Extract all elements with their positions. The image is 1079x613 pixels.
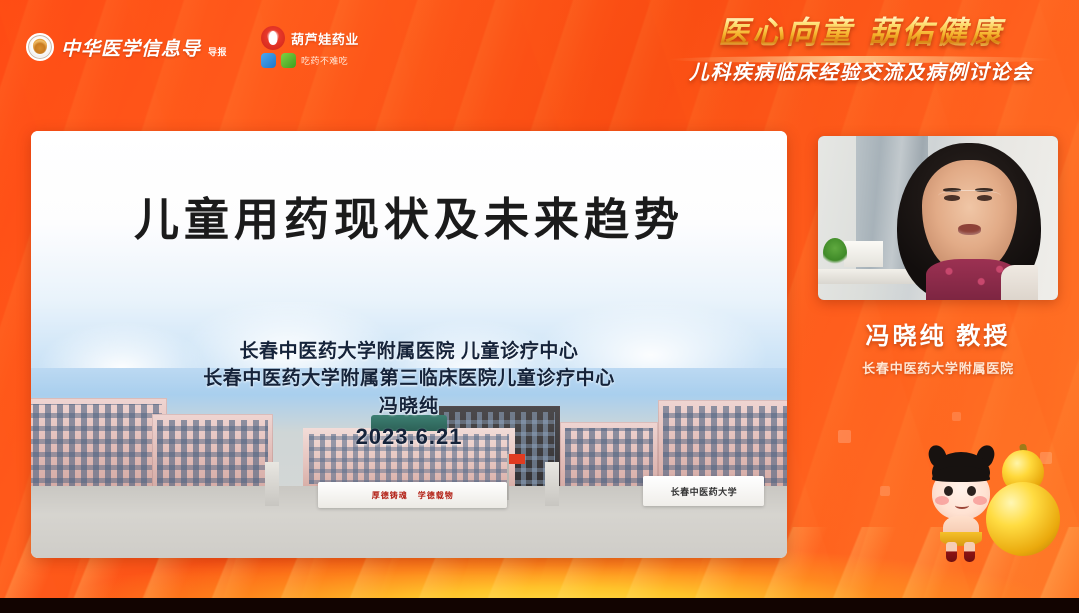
speaker-collar: [1001, 265, 1038, 300]
speaker-name: 冯晓纯 教授: [818, 316, 1058, 351]
character-eye-left: [944, 486, 953, 496]
huluwa-logo-secondary-row: 吃药不难吃: [261, 53, 359, 68]
speaker-organization: 长春中医药大学附属医院: [818, 358, 1058, 377]
webcam-plant: [823, 238, 847, 268]
presentation-slide[interactable]: 儿童用药现状及未来趋势 厚德铸魂 学德载物 长春中医药大学: [31, 131, 787, 558]
character-cheek-left: [935, 496, 949, 505]
character-leg-left: [946, 542, 957, 562]
huluwa-mascot: [916, 440, 1066, 565]
character-mouth: [955, 502, 969, 509]
monument-text-left: 厚德铸魂: [372, 490, 408, 501]
bottom-letterbox-bar: [0, 598, 1079, 613]
slide-presenter-name: 冯晓纯: [31, 393, 787, 422]
character-eye-right: [967, 486, 976, 496]
broadcast-stage: 中华医学信息导 导报 葫芦娃药业 吃药不难吃 医心向童 葫佑健康 儿科疾病临床经…: [0, 0, 1079, 613]
slide-date: 2023.6.21: [31, 421, 787, 453]
header-logo-group: 中华医学信息导 导报 葫芦娃药业 吃药不难吃: [26, 26, 359, 68]
green-chip-icon: [281, 53, 296, 68]
character-leg-right: [964, 542, 975, 562]
cma-logo: 中华医学信息导 导报: [26, 33, 227, 61]
slide-subtitle-block: 长春中医药大学附属医院 儿童诊疗中心 长春中医药大学附属第三临床医院儿童诊疗中心…: [31, 339, 787, 453]
speaker-mouth: [958, 224, 981, 234]
huluwa-gourd-icon: [261, 26, 285, 50]
character-fringe: [932, 466, 990, 482]
speaker-face: [922, 160, 1017, 273]
blue-chip-icon: [261, 53, 276, 68]
monument-text-right: 学德载物: [418, 490, 454, 501]
event-banner: 医心向童 葫佑健康 儿科疾病临床经验交流及病例讨论会: [661, 16, 1061, 85]
slide-affiliation-line-1: 长春中医药大学附属医院 儿童诊疗中心: [31, 339, 787, 366]
slide-title: 儿童用药现状及未来趋势: [31, 183, 787, 248]
confetti-square: [952, 412, 961, 421]
webcam-shelf-box: [844, 241, 882, 267]
speaker-webcam-feed[interactable]: [818, 136, 1058, 300]
huluwa-logo-primary-row: 葫芦娃药业: [261, 26, 359, 50]
campus-gate-pillar-left: [265, 462, 279, 506]
speaker-credit: 冯晓纯 教授 长春中医药大学附属医院: [818, 316, 1058, 377]
character-cheek-right: [973, 496, 987, 505]
huluwa-brand-name: 葫芦娃药业: [291, 29, 359, 48]
campus-monument: 厚德铸魂 学德载物: [318, 482, 507, 508]
slide-affiliation-line-2: 长春中医药大学附属第三临床医院儿童诊疗中心: [31, 366, 787, 393]
cma-suffix-label: 导报: [208, 45, 227, 61]
webcam-speaker-figure: [897, 143, 1041, 300]
huluwa-tagline: 吃药不难吃: [301, 54, 348, 67]
cma-wordmark: 中华医学信息导: [61, 34, 201, 61]
huluwa-logo: 葫芦娃药业 吃药不难吃: [261, 26, 359, 68]
event-title: 医心向童 葫佑健康: [661, 16, 1061, 51]
campus-flagpole: [507, 454, 509, 500]
confetti-square: [838, 430, 851, 443]
huluwa-boy-character: [920, 452, 1004, 562]
cma-seal-icon: [26, 33, 54, 61]
event-subtitle: 儿科疾病临床经验交流及病例讨论会: [661, 56, 1061, 85]
confetti-square: [880, 486, 890, 496]
gate-sign-text: 长春中医药大学: [671, 485, 738, 498]
speaker-eye-right: [977, 195, 992, 201]
campus-gate-pillar-right: [545, 462, 559, 506]
speaker-eye-left: [944, 195, 959, 201]
campus-gate-sign: 长春中医药大学: [643, 476, 764, 506]
